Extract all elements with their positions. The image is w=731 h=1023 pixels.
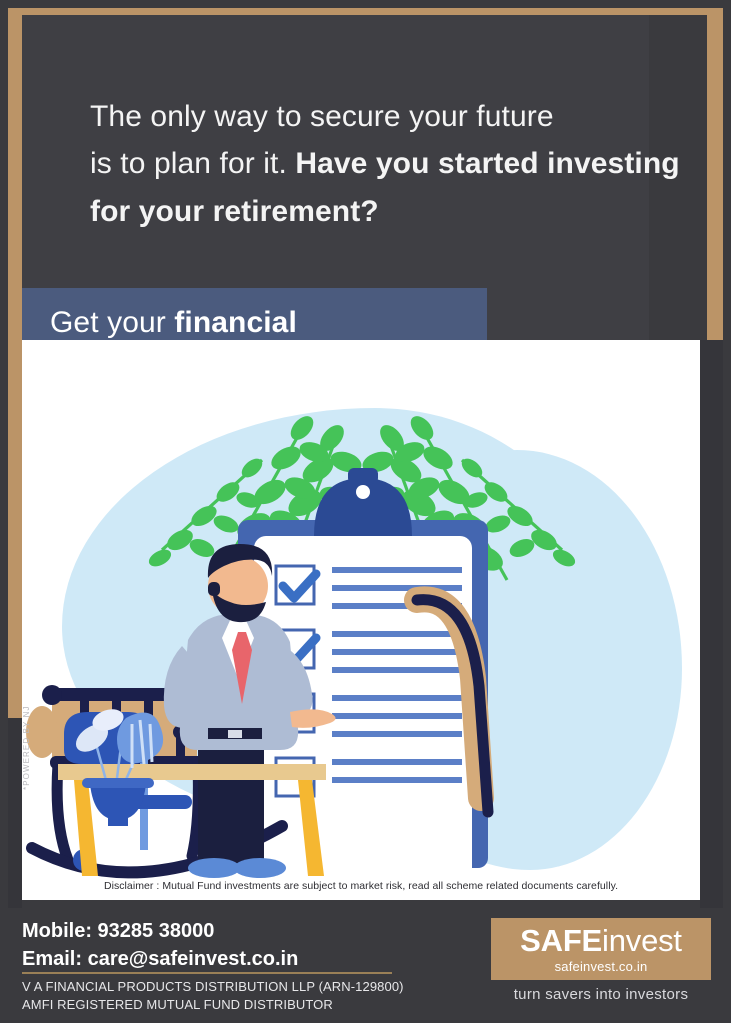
logo-invest: invest: [602, 923, 682, 958]
legal-block: V A FINANCIAL PRODUCTS DISTRIBUTION LLP …: [22, 978, 404, 1015]
frame-right-border-tan: [707, 8, 723, 348]
footer-panel: Mobile: 93285 38000 Email: care@safeinve…: [8, 908, 723, 1015]
cta-text-light: Get your: [50, 306, 174, 339]
financial-assessment-illustration: [22, 340, 700, 900]
logo-box: SAFEinvest safeinvest.co.in: [491, 918, 711, 980]
brand-logo[interactable]: SAFEinvest safeinvest.co.in turn savers …: [491, 918, 711, 1003]
frame-left-border-dark: [8, 718, 22, 908]
poster: The only way to secure your future is to…: [0, 0, 731, 1023]
logo-tagline: turn savers into investors: [491, 986, 711, 1003]
logo-safe: SAFE: [520, 923, 602, 958]
logo-wordmark: SAFEinvest: [491, 925, 711, 956]
logo-website[interactable]: safeinvest.co.in: [491, 959, 711, 974]
headline-line-2-light: is to plan for it.: [90, 147, 295, 180]
footer-divider: [22, 972, 392, 974]
email-address[interactable]: Email: care@safeinvest.co.in: [22, 945, 298, 973]
frame-top-border: [8, 8, 723, 15]
legal-line-2: AMFI REGISTERED MUTUAL FUND DISTRIBUTOR: [22, 996, 404, 1014]
headline-line-1: The only way to secure your future: [90, 100, 554, 133]
page-title: The only way to secure your future is to…: [90, 93, 700, 235]
powered-by-label: *POWERED BY NJ: [22, 680, 31, 790]
contact-block: Mobile: 93285 38000 Email: care@safeinve…: [22, 917, 298, 974]
legal-line-1: V A FINANCIAL PRODUCTS DISTRIBUTION LLP …: [22, 978, 404, 996]
cta-banner-line-1: Get your financial: [50, 302, 487, 343]
illustration-stage: [22, 340, 700, 900]
cta-text-bold: financial: [174, 306, 297, 339]
disclaimer-text: Disclaimer : Mutual Fund investments are…: [22, 880, 700, 892]
headline-line-2-bold: Have you started investing: [295, 147, 679, 180]
frame-left-border-tan: [8, 8, 22, 720]
headline-line-3-bold: for your retirement?: [90, 195, 379, 228]
frame-right-border-dark: [700, 340, 723, 908]
mobile-number[interactable]: Mobile: 93285 38000: [22, 917, 298, 945]
